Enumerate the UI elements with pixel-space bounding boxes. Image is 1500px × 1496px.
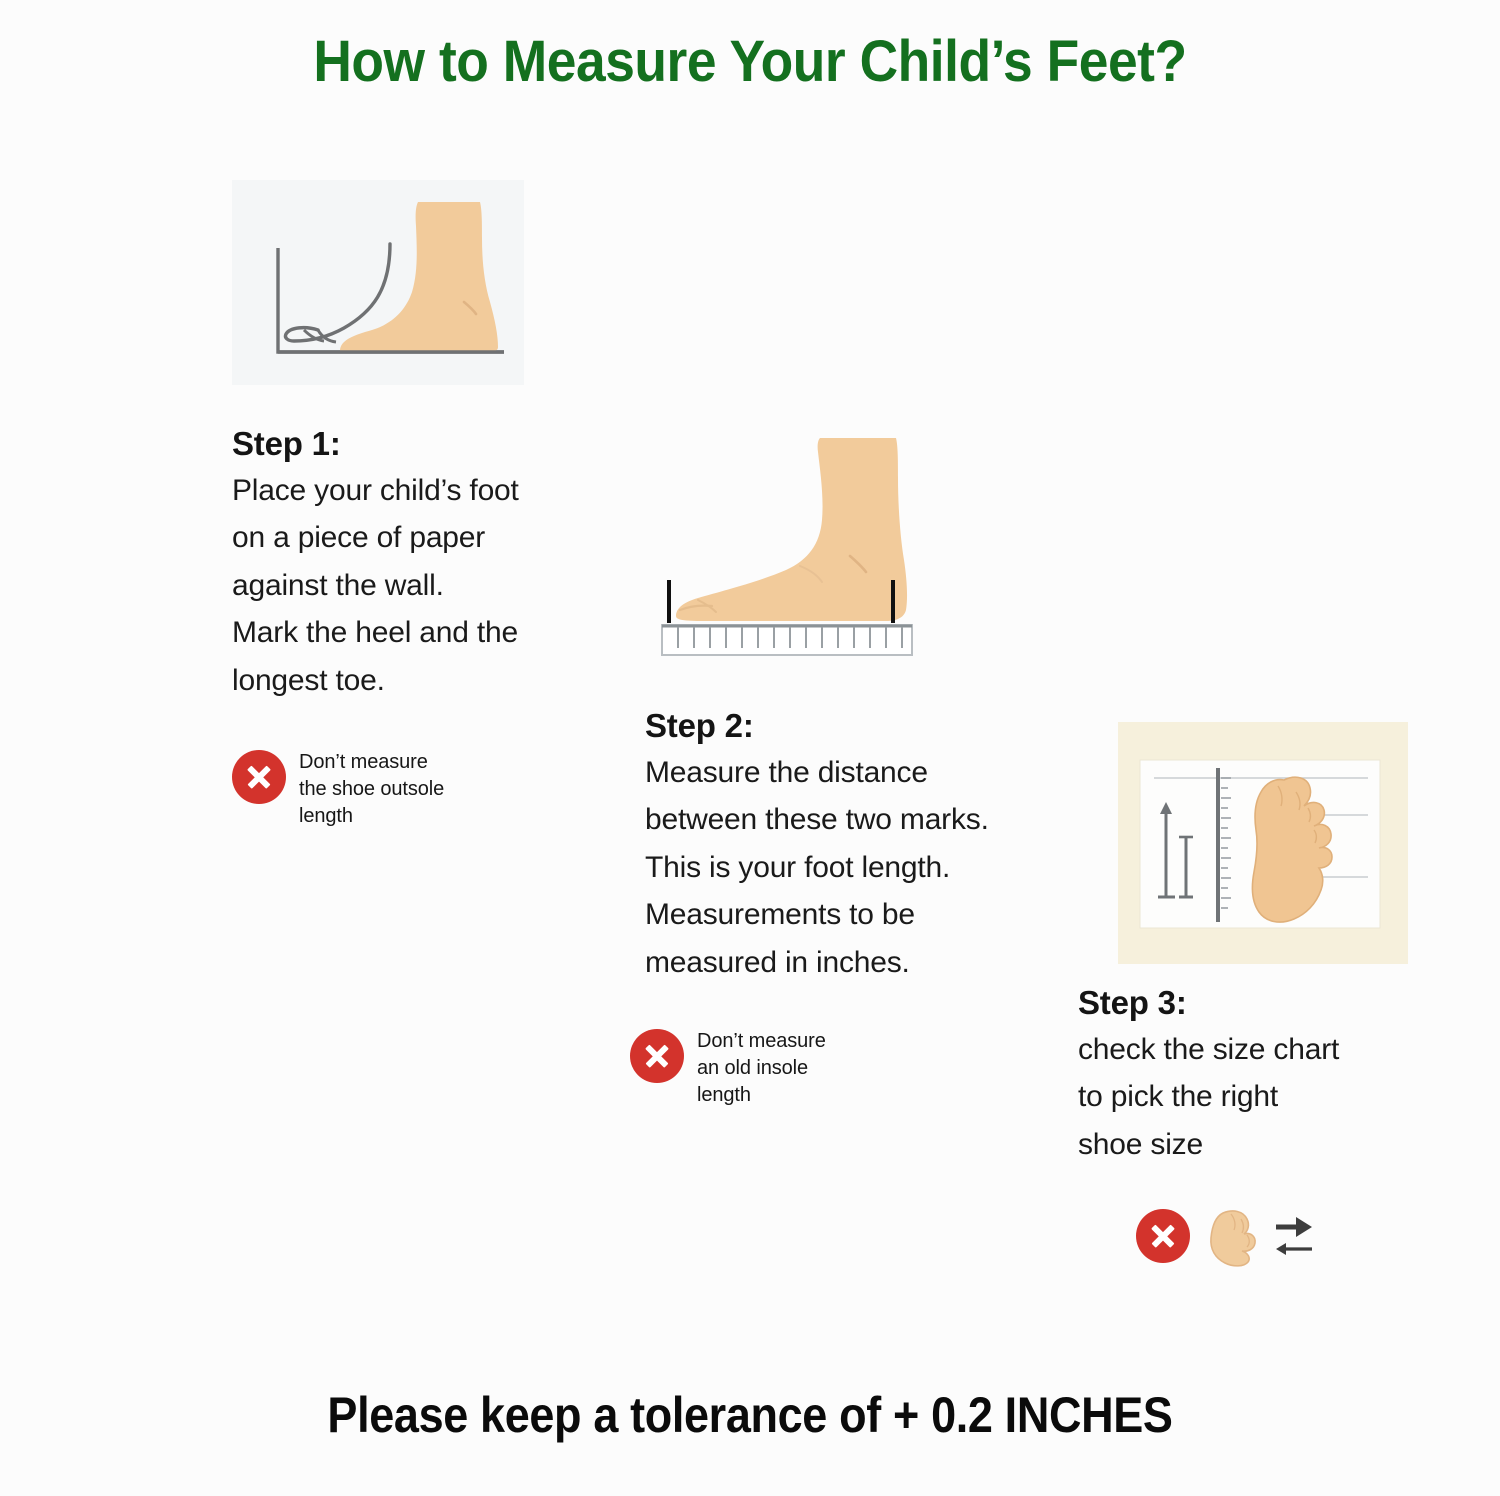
step-1-line-5: longest toe.	[232, 659, 547, 703]
red-cross-icon	[630, 1029, 684, 1083]
foot-on-ruler-illustration	[650, 420, 950, 675]
step-1-warning-line-3: length	[299, 803, 444, 830]
step-1-line-3: against the wall.	[232, 564, 547, 608]
step-3-line-3: shoe size	[1078, 1123, 1428, 1167]
step-2-line-3: This is your foot length.	[645, 846, 1070, 890]
step-1-line-4: Mark the heel and the	[232, 611, 547, 655]
step-1-illustration	[232, 180, 524, 385]
measurement-guide-page: How to Measure Your Child’s Feet? Step 1…	[0, 0, 1500, 1496]
step-2-warning-text: Don’t measure an old insole length	[697, 1027, 826, 1108]
foot-sole-on-measuring-chart-illustration	[1118, 722, 1408, 964]
step-3-text-block: Step 3: check the size chart to pick the…	[1078, 984, 1428, 1167]
step-2-heading: Step 2:	[645, 707, 1070, 745]
step-2-column: Step 2: Measure the distance between the…	[645, 420, 1075, 1108]
red-cross-icon	[232, 750, 286, 804]
step-1-line-1: Place your child’s foot	[232, 469, 547, 513]
step-3-warning	[1136, 1207, 1438, 1267]
step-1-column: Step 1: Place your child’s foot on a pie…	[232, 180, 552, 829]
foot-sole-icon	[1203, 1205, 1259, 1267]
step-1-body: Place your child’s foot on a piece of pa…	[232, 469, 547, 703]
step-2-text-block: Step 2: Measure the distance between the…	[645, 707, 1070, 985]
step-1-heading: Step 1:	[232, 425, 547, 463]
step-1-warning-text: Don’t measure the shoe outsole length	[299, 748, 444, 829]
step-1-text-block: Step 1: Place your child’s foot on a pie…	[232, 425, 547, 703]
arrow-left-icon	[1276, 1243, 1312, 1255]
arrow-right-icon	[1276, 1217, 1312, 1237]
step-2-line-1: Measure the distance	[645, 751, 1070, 795]
step-2-warning-line-3: length	[697, 1082, 826, 1109]
step-1-warning-line-1: Don’t measure	[299, 749, 444, 776]
step-2-line-4: Measurements to be	[645, 893, 1070, 937]
step-3-line-1: check the size chart	[1078, 1028, 1428, 1072]
step-2-line-5: measured in inches.	[645, 941, 1070, 985]
step-1-warning-line-2: the shoe outsole	[299, 776, 444, 803]
step-3-line-2: to pick the right	[1078, 1075, 1428, 1119]
tolerance-note: Please keep a tolerance of + 0.2 INCHES	[75, 1386, 1425, 1444]
step-3-column: Step 3: check the size chart to pick the…	[1078, 722, 1438, 1267]
step-2-warning-line-2: an old insole	[697, 1055, 826, 1082]
step-1-line-2: on a piece of paper	[232, 516, 547, 560]
page-title: How to Measure Your Child’s Feet?	[60, 28, 1440, 95]
step-3-heading: Step 3:	[1078, 984, 1428, 1022]
step-2-illustration	[650, 420, 950, 675]
measurement-arrows	[1272, 1213, 1318, 1265]
step-3-body: check the size chart to pick the right s…	[1078, 1028, 1428, 1167]
red-cross-icon	[1136, 1209, 1190, 1263]
step-2-line-2: between these two marks.	[645, 798, 1070, 842]
step-3-illustration	[1118, 722, 1408, 964]
step-2-body: Measure the distance between these two m…	[645, 751, 1070, 985]
step-1-warning: Don’t measure the shoe outsole length	[232, 748, 502, 829]
foot-against-wall-illustration	[232, 180, 524, 385]
step-2-warning-line-1: Don’t measure	[697, 1028, 826, 1055]
step-2-warning: Don’t measure an old insole length	[630, 1027, 930, 1108]
